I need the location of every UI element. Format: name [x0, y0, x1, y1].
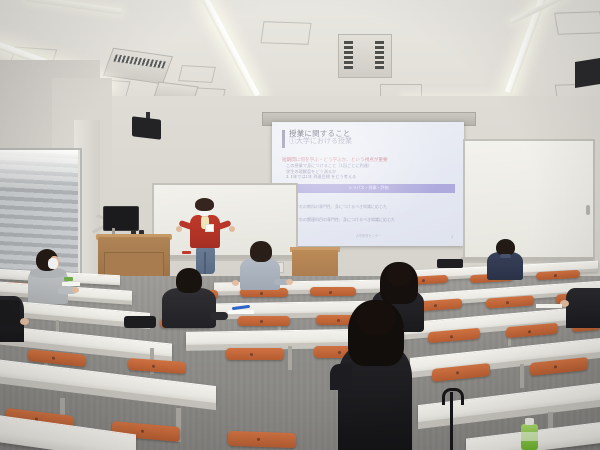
chair[interactable] — [228, 431, 296, 448]
ceiling-ac-vent — [338, 34, 392, 78]
attendee-body — [240, 258, 280, 290]
attendee-hand — [232, 280, 239, 286]
laptop-bag[interactable] — [437, 259, 463, 268]
table-leg — [288, 346, 292, 370]
lectern-monitor[interactable] — [103, 206, 139, 231]
wall-speaker-right — [575, 58, 600, 88]
bottle-cap[interactable] — [525, 418, 534, 425]
black-bag[interactable] — [0, 300, 20, 326]
table-leg — [520, 364, 524, 388]
attendee-head — [250, 241, 272, 262]
attendee-hand — [20, 318, 29, 325]
whiteboard-marker-tray — [461, 257, 593, 261]
attendee-head — [356, 300, 396, 336]
chair[interactable] — [310, 287, 356, 296]
lecture-room-photo: 授業に関すること ①大学における授業 短期間に何を学ぶ・どう学ぶか、という視点が… — [0, 0, 600, 450]
attendee-hand — [286, 279, 293, 285]
green-item — [64, 277, 73, 281]
presenter-leg-gap — [204, 252, 206, 274]
attendee-head — [386, 262, 412, 286]
handout-paper[interactable] — [536, 304, 562, 308]
handout-paper[interactable] — [62, 282, 80, 286]
whiteboard-marker-tray — [150, 255, 296, 259]
umbrella-handle[interactable] — [442, 388, 464, 405]
attendee-face-mask — [48, 258, 58, 269]
chair[interactable] — [238, 316, 290, 326]
presenter-name-badge — [205, 224, 214, 232]
whiteboard-knob[interactable] — [586, 205, 590, 215]
chair[interactable] — [226, 348, 284, 360]
side-whiteboard — [463, 139, 595, 263]
wall-speaker-left — [132, 116, 161, 140]
bottle-label — [521, 432, 538, 441]
attendee-hand — [72, 287, 79, 293]
screen-glare — [272, 122, 464, 246]
attendee-body — [162, 288, 216, 328]
attendee-collar — [500, 254, 511, 258]
ceiling-tile — [554, 11, 600, 35]
attendee-arm — [210, 312, 228, 320]
red-marker[interactable] — [182, 251, 191, 254]
attendee-body — [566, 288, 600, 328]
presenter-hand-right — [229, 226, 235, 232]
handout-paper[interactable] — [228, 310, 254, 314]
attendee-head — [176, 268, 202, 293]
presenter-hair — [195, 198, 214, 211]
presenter-hand-left — [176, 226, 182, 232]
black-bag[interactable] — [124, 316, 156, 328]
ceiling-tile — [260, 21, 311, 45]
attendee-shoulder — [330, 364, 352, 390]
ceiling-tile — [178, 65, 216, 83]
